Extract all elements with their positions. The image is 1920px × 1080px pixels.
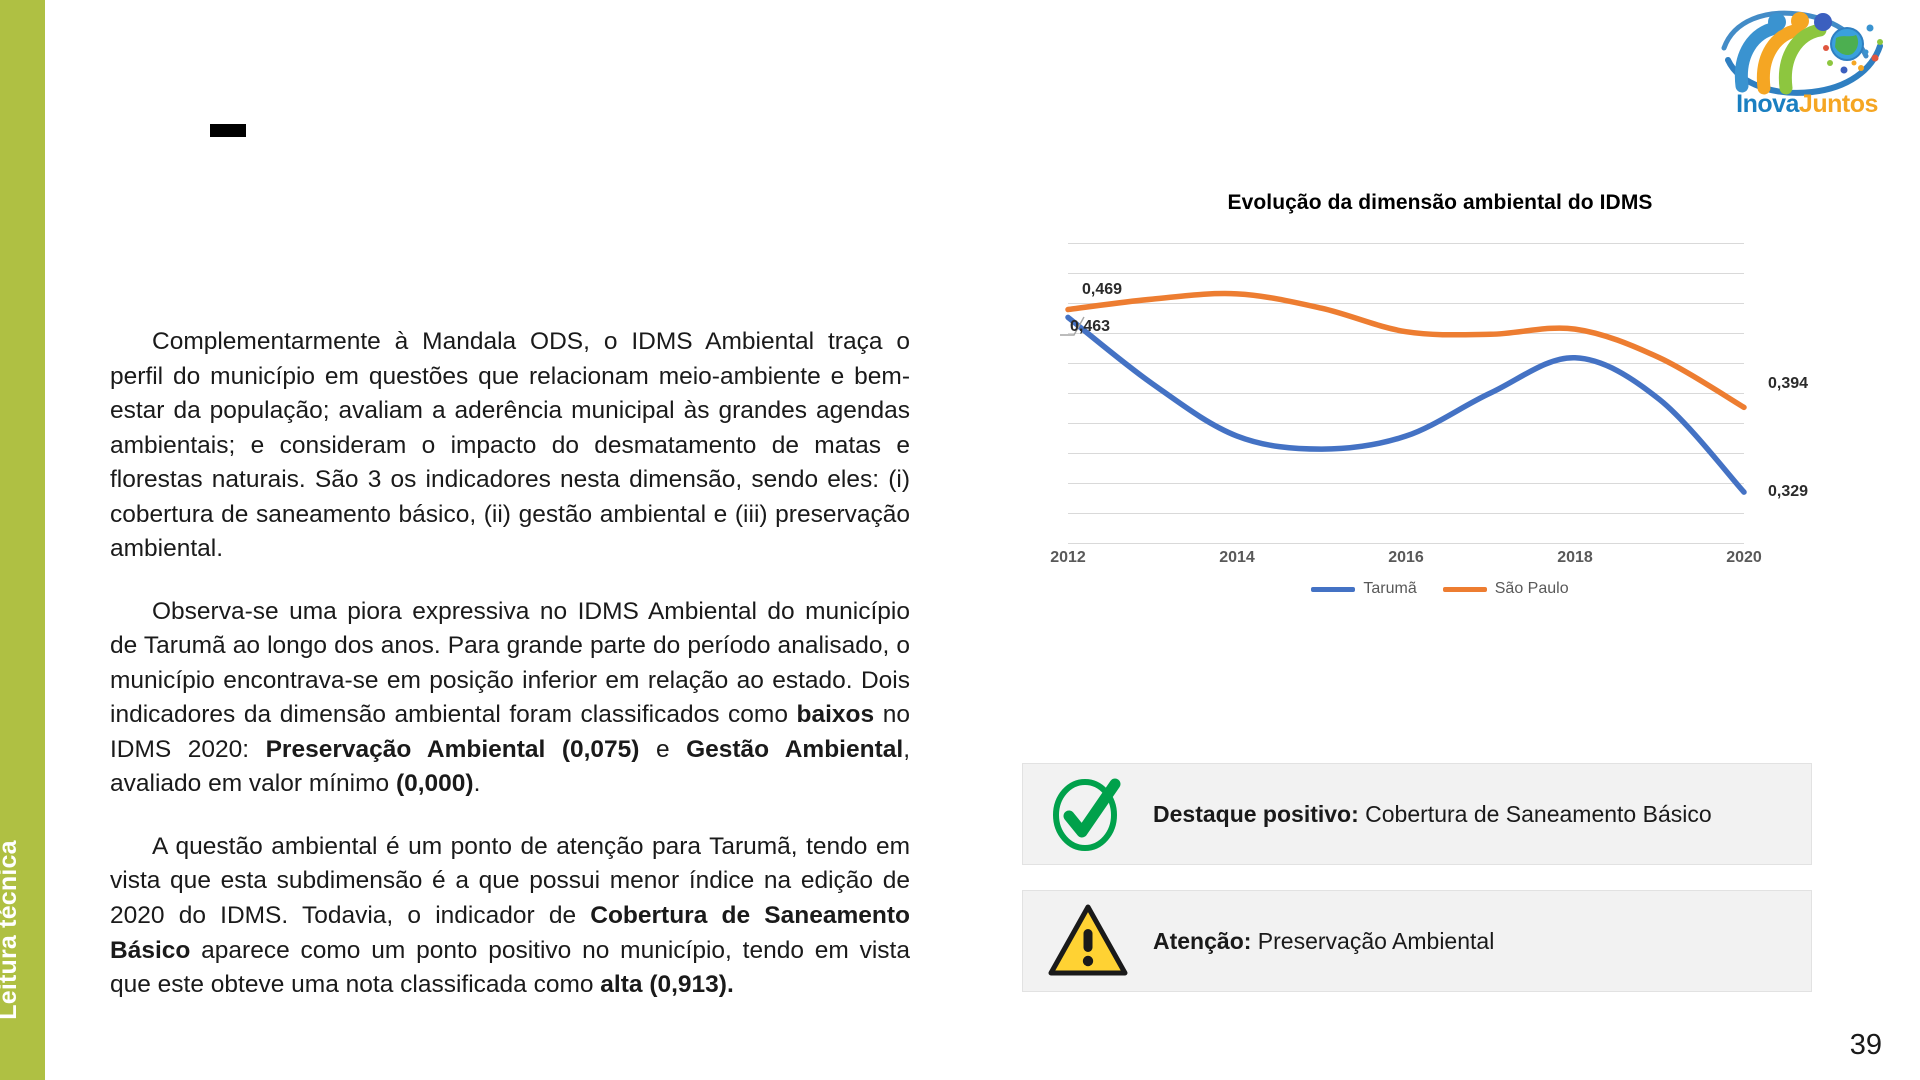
chart-plot-area: 0,469 0,463 0,394 0,329 2012201420162018…: [1000, 243, 1880, 543]
body-text: e: [639, 736, 686, 763]
logo-word-juntos: Juntos: [1799, 90, 1878, 118]
chart-legend: TarumãSão Paulo: [1000, 580, 1880, 598]
callout-positive-label: Destaque positivo:: [1153, 801, 1359, 827]
gridline: [1068, 543, 1744, 544]
paragraph: A questão ambiental é um ponto de atençã…: [110, 830, 910, 1003]
callout-attention: Atenção: Preservação Ambiental: [1022, 890, 1812, 992]
legend-swatch: [1311, 587, 1355, 592]
idms-environmental-line-chart: Evolução da dimensão ambiental do IDMS 0…: [1000, 185, 1880, 605]
logo-wordmark: InovaJuntos: [1712, 92, 1902, 117]
legend-item-tarumã[interactable]: Tarumã: [1311, 580, 1416, 598]
body-text: .: [474, 770, 481, 797]
x-axis-tick-2014: 2014: [1219, 549, 1255, 567]
check-circle-icon: [1045, 774, 1131, 854]
legend-label: São Paulo: [1495, 580, 1569, 598]
callout-attention-value: Preservação Ambiental: [1258, 928, 1495, 954]
page-number: 39: [1850, 1029, 1882, 1062]
chart-series-lines: [1068, 243, 1744, 543]
logo-mark-icon: [1720, 8, 1894, 96]
logo-word-inova: Inova: [1736, 90, 1799, 118]
callout-positive-text: Destaque positivo: Cobertura de Saneamen…: [1153, 801, 1712, 828]
chart-x-axis: 20122014201620182020: [1068, 545, 1744, 579]
callout-positive-highlight: Destaque positivo: Cobertura de Saneamen…: [1022, 763, 1812, 865]
legend-label: Tarumã: [1363, 580, 1416, 598]
section-dash-mark: [210, 124, 246, 137]
x-axis-tick-2012: 2012: [1050, 549, 1086, 567]
emphasis-text: baixos: [797, 701, 875, 728]
data-label-sao-paulo-2020: 0,394: [1768, 375, 1808, 393]
inovajuntos-logo: InovaJuntos: [1712, 8, 1902, 126]
emphasis-text: alta (0,913).: [600, 971, 733, 998]
callout-attention-text: Atenção: Preservação Ambiental: [1153, 928, 1494, 955]
paragraph: Complementarmente à Mandala ODS, o IDMS …: [110, 325, 910, 567]
emphasis-text: Preservação Ambiental (0,075): [266, 736, 640, 763]
x-axis-tick-2018: 2018: [1557, 549, 1593, 567]
x-axis-tick-2016: 2016: [1388, 549, 1424, 567]
article-text-column: Complementarmente à Mandala ODS, o IDMS …: [110, 325, 910, 1003]
sidebar-section-label: Leitura técnica: [0, 840, 23, 1019]
body-text: Complementarmente à Mandala ODS, o IDMS …: [110, 328, 910, 562]
data-label-taruma-2012: 0,463: [1070, 318, 1110, 336]
left-green-sidebar: Leitura técnica: [0, 0, 45, 1080]
data-label-taruma-2020: 0,329: [1768, 483, 1808, 501]
chart-plot-canvas: 0,469 0,463 0,394 0,329: [1068, 243, 1744, 543]
data-label-sao-paulo-2012: 0,469: [1082, 281, 1122, 299]
x-axis-tick-2020: 2020: [1726, 549, 1762, 567]
emphasis-text: Gestão Ambiental: [686, 736, 903, 763]
legend-swatch: [1443, 587, 1487, 592]
body-text: aparece como um ponto positivo no municí…: [110, 937, 910, 999]
body-text: Observa-se uma piora expressiva no IDMS …: [110, 598, 910, 729]
series-line-tarumã: [1068, 317, 1744, 492]
callout-attention-label: Atenção:: [1153, 928, 1251, 954]
warning-triangle-icon: [1045, 901, 1131, 981]
paragraph: Observa-se uma piora expressiva no IDMS …: [110, 595, 910, 802]
series-line-são-paulo: [1068, 294, 1744, 408]
legend-item-são-paulo[interactable]: São Paulo: [1443, 580, 1569, 598]
chart-title: Evolução da dimensão ambiental do IDMS: [1000, 185, 1880, 215]
callout-positive-value: Cobertura de Saneamento Básico: [1365, 801, 1712, 827]
emphasis-text: (0,000): [396, 770, 474, 797]
